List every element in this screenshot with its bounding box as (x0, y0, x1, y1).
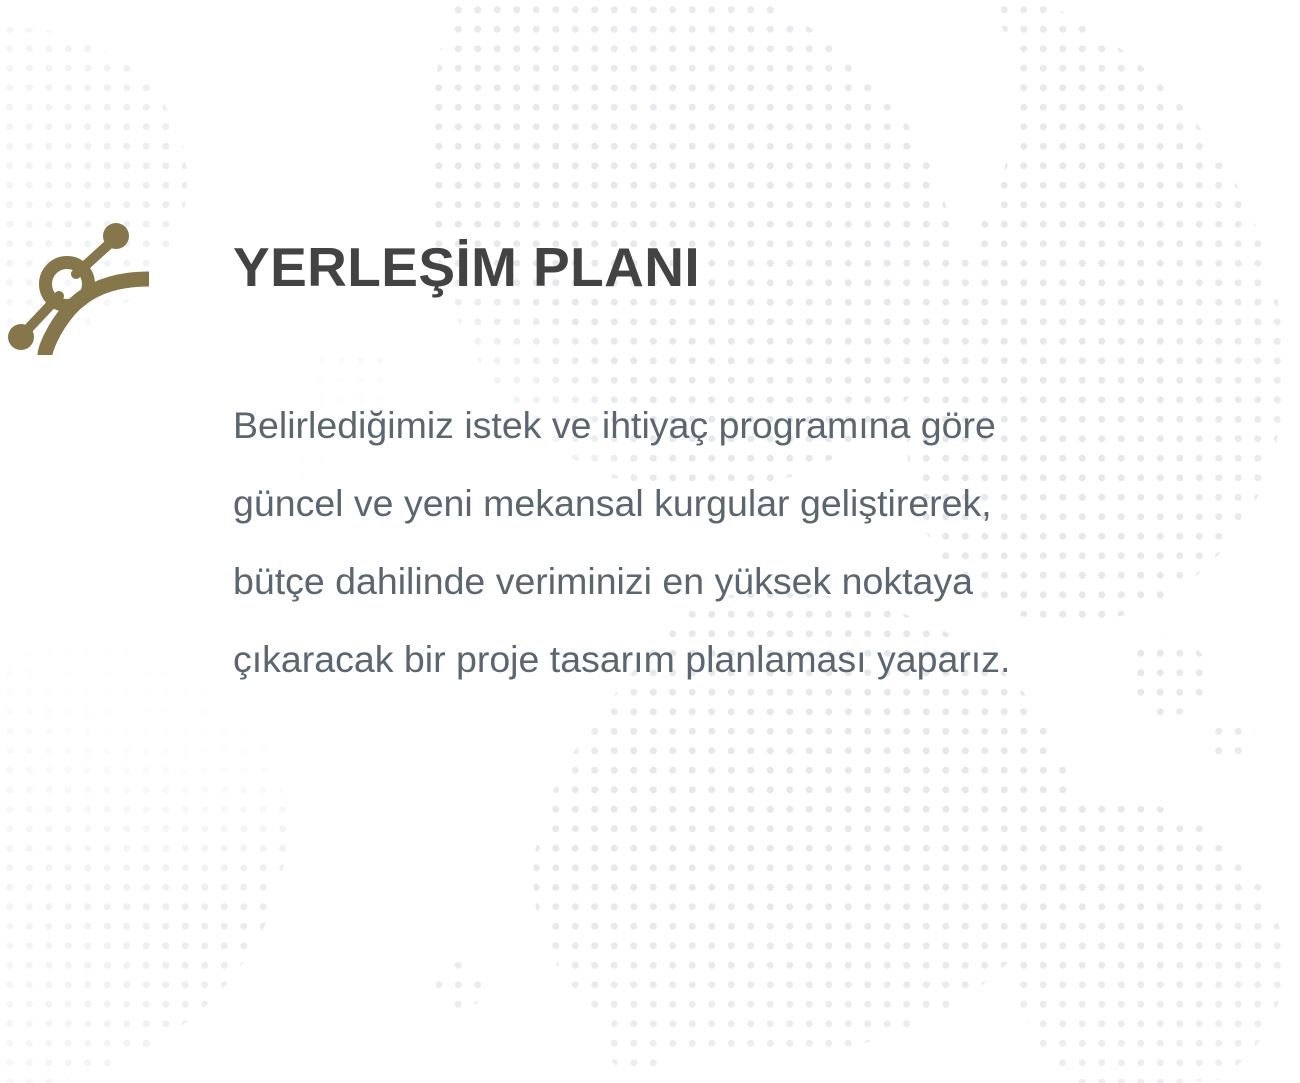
description-line: Belirlediğimiz istek ve ihtiyaç programı… (233, 386, 1243, 464)
page-title: YERLEŞİM PLANI (233, 234, 700, 300)
description-line: bütçe dahilinde veriminizi en yüksek nok… (233, 542, 1243, 620)
description-line: çıkaracak bir proje tasarım planlaması y… (233, 620, 1243, 698)
network-node-icon (4, 212, 154, 358)
feature-description: Belirlediğimiz istek ve ihtiyaç programı… (233, 386, 1243, 698)
feature-content: YERLEŞİM PLANI Belirlediğimiz istek ve i… (0, 0, 1300, 1083)
feature-slide: YERLEŞİM PLANI Belirlediğimiz istek ve i… (0, 0, 1300, 1083)
description-line: güncel ve yeni mekansal kurgular gelişti… (233, 464, 1243, 542)
